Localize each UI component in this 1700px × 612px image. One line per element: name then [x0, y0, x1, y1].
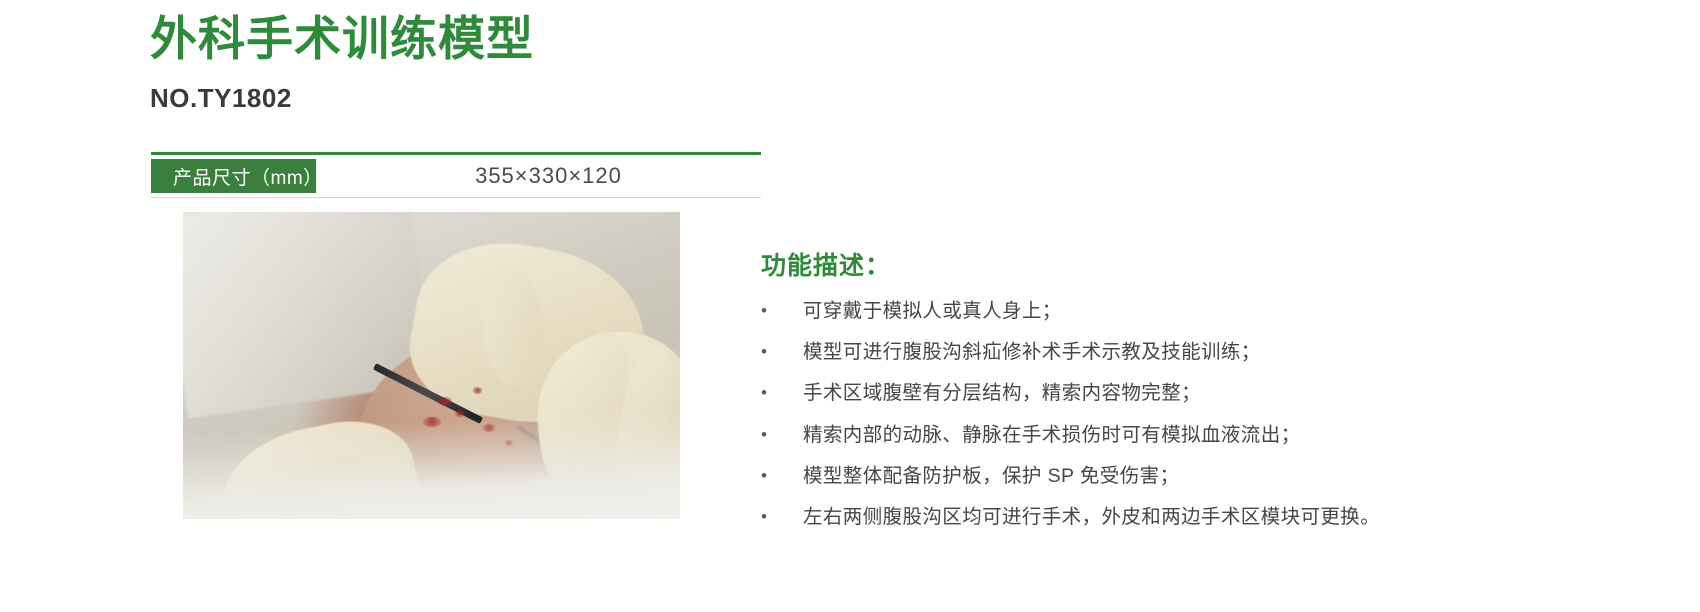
- spec-value-dimensions: 355×330×120: [316, 159, 761, 193]
- page-header: 外科手术训练模型 NO.TY1802: [150, 12, 534, 114]
- list-item: • 模型可进行腹股沟斜疝修补术手术示教及技能训练；: [761, 337, 1461, 367]
- feature-text: 模型可进行腹股沟斜疝修补术手术示教及技能训练；: [803, 337, 1461, 367]
- spec-label-dimensions: 产品尺寸（mm）: [151, 159, 316, 193]
- list-item: • 可穿戴于模拟人或真人身上；: [761, 296, 1461, 326]
- product-photo: [183, 212, 680, 519]
- bullet-icon: •: [761, 461, 803, 490]
- features-heading: 功能描述：: [761, 246, 1461, 282]
- spec-table-bottom-rule: [151, 197, 761, 198]
- table-row: 产品尺寸（mm） 355×330×120: [151, 159, 761, 193]
- bullet-icon: •: [761, 378, 803, 407]
- blood-droplet: [438, 397, 452, 406]
- feature-text: 可穿戴于模拟人或真人身上；: [803, 296, 1461, 326]
- blood-droplet: [455, 410, 465, 417]
- list-item: • 手术区域腹壁有分层结构，精索内容物完整；: [761, 378, 1461, 408]
- spec-table-top-rule: [151, 152, 761, 155]
- product-code: NO.TY1802: [150, 83, 534, 114]
- feature-list: • 可穿戴于模拟人或真人身上； • 模型可进行腹股沟斜疝修补术手术示教及技能训练…: [761, 296, 1461, 532]
- features-panel: 功能描述： • 可穿戴于模拟人或真人身上； • 模型可进行腹股沟斜疝修补术手术示…: [761, 246, 1461, 543]
- list-item: • 左右两侧腹股沟区均可进行手术，外皮和两边手术区模块可更换。: [761, 502, 1461, 532]
- spec-table: 产品尺寸（mm） 355×330×120: [151, 152, 761, 198]
- feature-text: 模型整体配备防护板，保护 SP 免受伤害；: [803, 461, 1461, 491]
- blood-droplet: [473, 387, 482, 394]
- bullet-icon: •: [761, 296, 803, 325]
- product-page: 外科手术训练模型 NO.TY1802 产品尺寸（mm） 355×330×120: [0, 0, 1700, 612]
- surgical-drape-bottom: [183, 403, 680, 519]
- page-title: 外科手术训练模型: [150, 12, 534, 67]
- photo-scene: [183, 212, 680, 519]
- feature-text: 左右两侧腹股沟区均可进行手术，外皮和两边手术区模块可更换。: [803, 502, 1461, 532]
- feature-text: 精索内部的动脉、静脉在手术损伤时可有模拟血液流出；: [803, 420, 1461, 450]
- bullet-icon: •: [761, 337, 803, 366]
- list-item: • 模型整体配备防护板，保护 SP 免受伤害；: [761, 461, 1461, 491]
- feature-text: 手术区域腹壁有分层结构，精索内容物完整；: [803, 378, 1461, 408]
- bullet-icon: •: [761, 420, 803, 449]
- bullet-icon: •: [761, 502, 803, 531]
- list-item: • 精索内部的动脉、静脉在手术损伤时可有模拟血液流出；: [761, 420, 1461, 450]
